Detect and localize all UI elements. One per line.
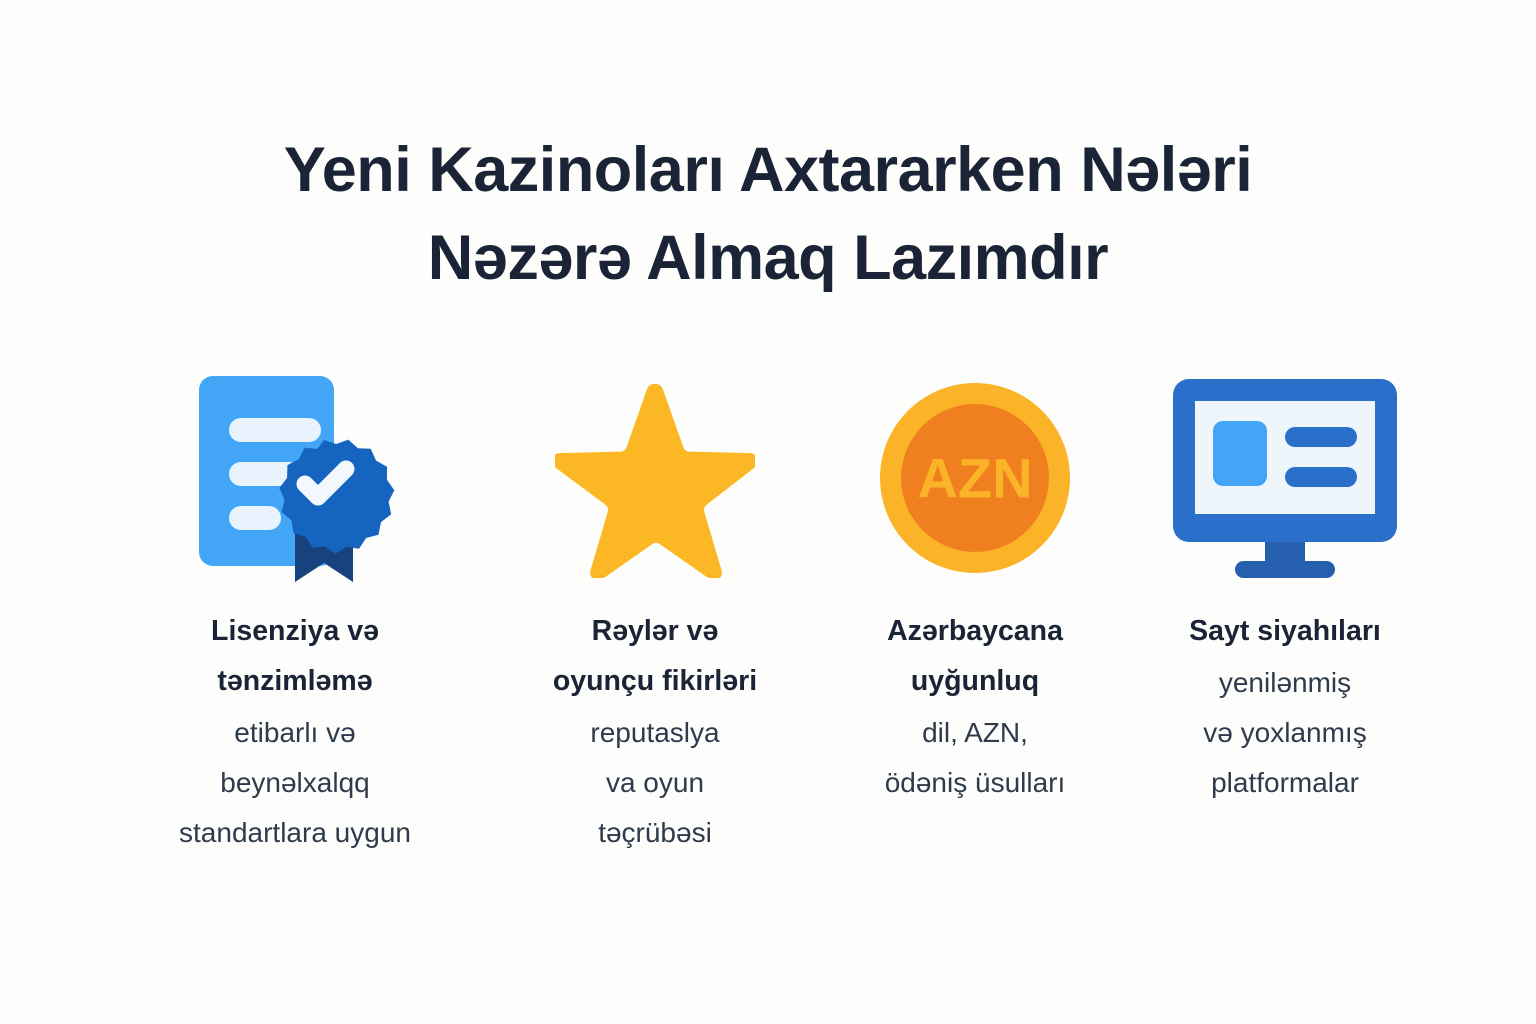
feature-heading-sitelists: Sayt siyahıları	[1189, 606, 1381, 656]
feature-column-azn: AZN Azərbaycana uyğunluq dil, AZN, ödəni…	[830, 365, 1120, 808]
feature-column-sitelists: Sayt siyahıları yenilənmiş və yoxlanmış …	[1140, 365, 1430, 808]
azn-coin-icon: AZN	[875, 365, 1075, 590]
feature-heading-azn: Azərbaycana uyğunluq	[887, 606, 1063, 706]
page-title-line-1: Yeni Kazinoları Axtararken Nələri	[0, 126, 1536, 214]
feature-column-reviews: Rəylər və oyunçu fikirləri reputaslya va…	[500, 365, 810, 858]
star-rating-icon	[555, 365, 755, 590]
page-title-line-2: Nəzərə Almaq Lazımdır	[0, 214, 1536, 302]
infographic-canvas: Yeni Kazinoları Axtararken Nələri Nəzərə…	[0, 0, 1536, 1024]
page-title: Yeni Kazinoları Axtararken Nələri Nəzərə…	[0, 126, 1536, 302]
coin-label: AZN	[917, 446, 1032, 509]
feature-body-sitelists: yenilənmiş və yoxlanmış platformalar	[1203, 658, 1366, 808]
feature-body-reviews: reputaslya va oyun təçrübəsi	[590, 708, 719, 858]
feature-body-azn: dil, AZN, ödəniş üsulları	[885, 708, 1066, 808]
feature-body-license: etibarlı və beynəlxalqq standartlara uyg…	[179, 708, 411, 858]
feature-columns: Lisenziya və tənzimləmə etibarlı və beyn…	[110, 365, 1430, 858]
feature-column-license: Lisenziya və tənzimləmə etibarlı və beyn…	[110, 365, 480, 858]
feature-heading-reviews: Rəylər və oyunçu fikirləri	[553, 606, 757, 706]
certificate-document-icon	[183, 365, 408, 590]
feature-heading-license: Lisenziya və tənzimləmə	[211, 606, 379, 706]
monitor-website-list-icon	[1165, 365, 1405, 590]
